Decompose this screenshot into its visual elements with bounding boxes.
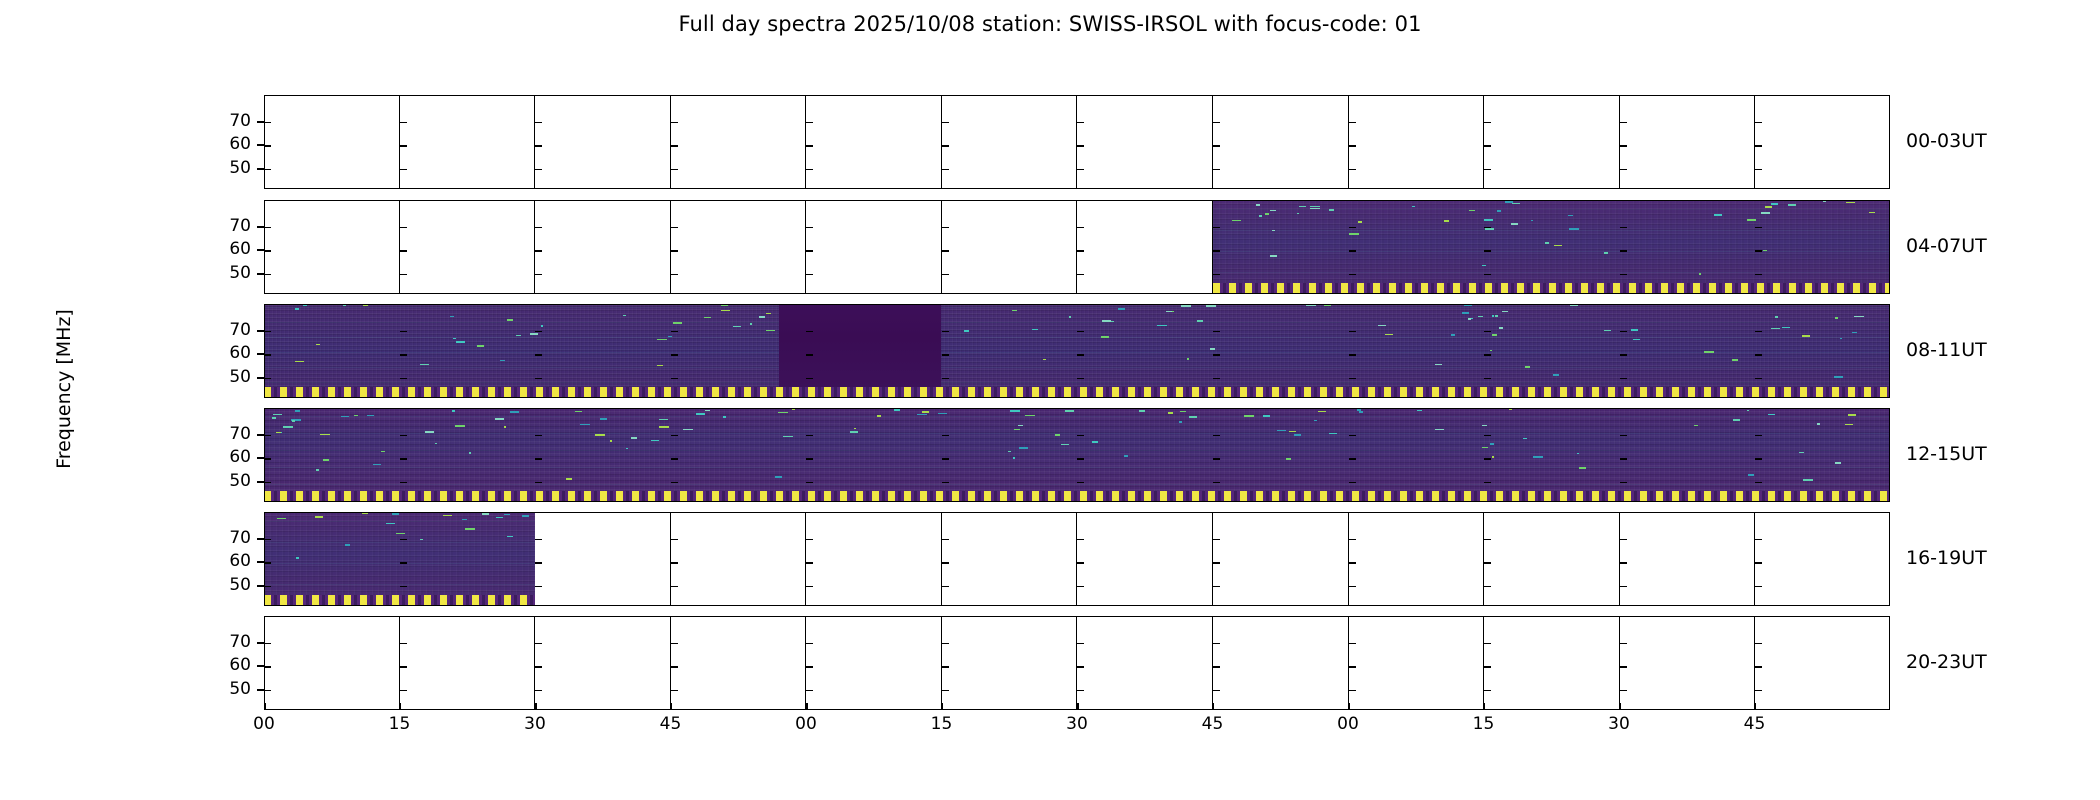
subpanel-y-tick-60 xyxy=(942,354,949,356)
x-tick-label: 15 xyxy=(922,714,962,734)
figure-title: Full day spectra 2025/10/08 station: SWI… xyxy=(0,12,2100,36)
subpanel[interactable] xyxy=(671,512,807,606)
subpanel-y-tick-60 xyxy=(671,354,678,356)
subpanel-y-tick-60 xyxy=(1213,562,1220,564)
y-tick-mark xyxy=(257,434,264,436)
subpanel-y-tick-70 xyxy=(1755,643,1762,645)
subpanel-y-tick-70 xyxy=(1755,331,1762,333)
subpanel[interactable] xyxy=(1620,95,1756,189)
subpanel-y-tick-70 xyxy=(942,227,949,229)
y-tick-mark xyxy=(257,226,264,228)
subpanel-y-tick-60 xyxy=(400,562,407,564)
subpanel-y-tick-70 xyxy=(264,539,271,541)
subpanel[interactable] xyxy=(400,616,536,710)
x-tick-mark xyxy=(1077,703,1079,710)
row-time-label: 12-15UT xyxy=(1906,443,1987,465)
subpanel-y-tick-70 xyxy=(1077,539,1084,541)
spectrogram-data xyxy=(264,304,1890,398)
subpanel[interactable] xyxy=(1349,95,1485,189)
subpanel[interactable] xyxy=(535,200,671,294)
subpanel-y-tick-50 xyxy=(1620,586,1627,588)
subpanel[interactable] xyxy=(671,616,807,710)
row-time-label: 00-03UT xyxy=(1906,130,1987,152)
subpanel-y-tick-70 xyxy=(400,643,407,645)
subpanel-y-tick-70 xyxy=(1213,331,1220,333)
subpanel-y-tick-50 xyxy=(264,378,271,380)
subpanel-y-tick-50 xyxy=(535,274,542,276)
subpanel[interactable] xyxy=(1484,616,1620,710)
subpanel[interactable] xyxy=(806,95,942,189)
y-tick-label: 70 xyxy=(0,424,251,444)
y-tick-label: 50 xyxy=(0,471,251,491)
subpanel-y-tick-70 xyxy=(1213,227,1220,229)
y-tick-mark xyxy=(257,585,264,587)
subpanel-y-tick-50 xyxy=(264,482,271,484)
y-tick-mark xyxy=(257,481,264,483)
subpanel-y-tick-50 xyxy=(942,586,949,588)
subpanel[interactable] xyxy=(1213,616,1349,710)
subpanel-y-tick-60 xyxy=(1349,562,1356,564)
y-tick-label: 60 xyxy=(0,551,251,571)
subpanel-y-tick-60 xyxy=(535,458,542,460)
subpanel-y-tick-50 xyxy=(671,274,678,276)
subpanel-y-tick-60 xyxy=(806,145,813,147)
subpanel[interactable] xyxy=(1620,512,1756,606)
subpanel-y-tick-60 xyxy=(806,250,813,252)
subpanel[interactable] xyxy=(1213,512,1349,606)
subpanel-y-tick-70 xyxy=(671,122,678,124)
subpanel-y-tick-60 xyxy=(264,458,271,460)
subpanel-y-tick-70 xyxy=(535,122,542,124)
subpanel-y-tick-60 xyxy=(1484,354,1491,356)
subpanel-y-tick-50 xyxy=(264,586,271,588)
subpanel-y-tick-50 xyxy=(1077,378,1084,380)
subpanel-y-tick-50 xyxy=(535,586,542,588)
subpanel-y-tick-60 xyxy=(1077,666,1084,668)
subpanel-y-tick-50 xyxy=(806,169,813,171)
spectrogram-row-12-15ut[interactable] xyxy=(264,408,1890,502)
subpanel-y-tick-60 xyxy=(264,562,271,564)
subpanel-y-tick-70 xyxy=(264,227,271,229)
y-tick-label: 50 xyxy=(0,367,251,387)
x-tick-mark xyxy=(1619,703,1621,710)
x-tick-label: 00 xyxy=(1328,714,1368,734)
subpanel-y-tick-50 xyxy=(1213,378,1220,380)
subpanel-y-tick-70 xyxy=(1755,122,1762,124)
subpanel-y-tick-50 xyxy=(1349,690,1356,692)
y-tick-mark xyxy=(257,353,264,355)
subpanel[interactable] xyxy=(1077,512,1213,606)
subpanel-y-tick-50 xyxy=(1620,169,1627,171)
subpanel-y-tick-50 xyxy=(942,274,949,276)
x-tick-label: 45 xyxy=(1193,714,1233,734)
x-tick-label: 00 xyxy=(786,714,826,734)
subpanel-y-tick-60 xyxy=(1484,666,1491,668)
x-tick-label: 45 xyxy=(1735,714,1775,734)
subpanel-y-tick-60 xyxy=(535,354,542,356)
subpanel[interactable] xyxy=(400,95,536,189)
subpanel-y-tick-50 xyxy=(1077,482,1084,484)
y-tick-label: 70 xyxy=(0,216,251,236)
subpanel-y-tick-70 xyxy=(1213,435,1220,437)
spectrogram-bottom-stripe xyxy=(264,595,535,606)
subpanel-y-tick-70 xyxy=(671,643,678,645)
subpanel-y-tick-50 xyxy=(806,586,813,588)
subpanel[interactable] xyxy=(806,512,942,606)
subpanel-y-tick-50 xyxy=(1213,169,1220,171)
subpanel-y-tick-60 xyxy=(1213,458,1220,460)
y-tick-label: 60 xyxy=(0,239,251,259)
subpanel-grid xyxy=(264,95,1890,189)
subpanel-y-tick-50 xyxy=(1755,482,1762,484)
subpanel-y-tick-60 xyxy=(1213,354,1220,356)
subpanel-y-tick-50 xyxy=(1620,690,1627,692)
x-tick-mark xyxy=(535,703,537,710)
subpanel-y-tick-50 xyxy=(535,482,542,484)
subpanel-y-tick-50 xyxy=(400,169,407,171)
subpanel[interactable] xyxy=(535,616,671,710)
subpanel-y-tick-50 xyxy=(942,378,949,380)
subpanel[interactable] xyxy=(1077,616,1213,710)
y-tick-mark xyxy=(257,249,264,251)
subpanel-y-tick-60 xyxy=(1620,458,1627,460)
subpanel[interactable] xyxy=(264,616,400,710)
subpanel-y-tick-50 xyxy=(942,482,949,484)
subpanel-y-tick-50 xyxy=(1077,274,1084,276)
subpanel-y-tick-60 xyxy=(1213,145,1220,147)
subpanel-y-tick-70 xyxy=(1213,539,1220,541)
subpanel-y-tick-60 xyxy=(1349,458,1356,460)
subpanel-y-tick-60 xyxy=(942,145,949,147)
x-tick-label: 30 xyxy=(1057,714,1097,734)
subpanel-y-tick-50 xyxy=(1484,378,1491,380)
subpanel-y-tick-70 xyxy=(535,227,542,229)
row-time-label: 20-23UT xyxy=(1906,651,1987,673)
subpanel-y-tick-70 xyxy=(264,122,271,124)
subpanel[interactable] xyxy=(535,512,671,606)
y-tick-label: 50 xyxy=(0,575,251,595)
subpanel-y-tick-50 xyxy=(1213,690,1220,692)
subpanel-y-tick-60 xyxy=(535,145,542,147)
subpanel-y-tick-70 xyxy=(806,435,813,437)
subpanel-y-tick-70 xyxy=(806,539,813,541)
subpanel-y-tick-70 xyxy=(400,227,407,229)
subpanel-y-tick-50 xyxy=(1349,586,1356,588)
subpanel-y-tick-70 xyxy=(942,643,949,645)
subpanel-y-tick-50 xyxy=(1077,586,1084,588)
subpanel[interactable] xyxy=(1349,616,1485,710)
y-tick-label: 70 xyxy=(0,111,251,131)
spectrogram-row-16-19ut[interactable] xyxy=(264,512,1890,606)
subpanel-y-tick-60 xyxy=(264,250,271,252)
spectrogram-row-08-11ut[interactable] xyxy=(264,304,1890,398)
x-tick-mark xyxy=(400,703,402,710)
subpanel-y-tick-70 xyxy=(942,435,949,437)
subpanel-y-tick-60 xyxy=(942,666,949,668)
x-tick-label: 30 xyxy=(1599,714,1639,734)
y-tick-label: 50 xyxy=(0,158,251,178)
subpanel-y-tick-60 xyxy=(1077,562,1084,564)
y-tick-label: 70 xyxy=(0,632,251,652)
subpanel-y-tick-60 xyxy=(1349,250,1356,252)
row-time-label: 08-11UT xyxy=(1906,339,1987,361)
subpanel-y-tick-50 xyxy=(400,690,407,692)
y-tick-mark xyxy=(257,121,264,123)
subpanel[interactable] xyxy=(806,200,942,294)
subpanel-y-tick-50 xyxy=(1620,482,1627,484)
subpanel-y-tick-60 xyxy=(1077,145,1084,147)
subpanel-y-tick-50 xyxy=(400,482,407,484)
x-tick-mark xyxy=(1484,703,1486,710)
subpanel[interactable] xyxy=(1484,95,1620,189)
subpanel-y-tick-70 xyxy=(535,643,542,645)
subpanel-y-tick-60 xyxy=(264,666,271,668)
subpanel-y-tick-50 xyxy=(264,169,271,171)
subpanel-grid xyxy=(264,616,1890,710)
spectrogram-data xyxy=(264,408,1890,502)
subpanel[interactable] xyxy=(264,95,400,189)
subpanel[interactable] xyxy=(671,200,807,294)
subpanel-y-tick-70 xyxy=(264,643,271,645)
subpanel[interactable] xyxy=(400,200,536,294)
subpanel-y-tick-50 xyxy=(400,586,407,588)
subpanel-y-tick-50 xyxy=(535,169,542,171)
subpanel-y-tick-50 xyxy=(671,169,678,171)
subpanel-y-tick-70 xyxy=(1484,331,1491,333)
spectrogram-data xyxy=(1213,200,1891,294)
subpanel-y-tick-60 xyxy=(1755,145,1762,147)
subpanel-y-tick-60 xyxy=(1755,562,1762,564)
subpanel-y-tick-70 xyxy=(1484,435,1491,437)
subpanel-y-tick-50 xyxy=(806,274,813,276)
subpanel-y-tick-70 xyxy=(942,539,949,541)
subpanel-y-tick-70 xyxy=(1349,122,1356,124)
subpanel-y-tick-70 xyxy=(1213,643,1220,645)
subpanel-y-tick-70 xyxy=(400,539,407,541)
y-tick-mark xyxy=(257,561,264,563)
subpanel-y-tick-70 xyxy=(1484,643,1491,645)
subpanel-y-tick-70 xyxy=(1620,331,1627,333)
subpanel-y-tick-70 xyxy=(1620,435,1627,437)
subpanel-y-tick-50 xyxy=(535,690,542,692)
subpanel-y-tick-70 xyxy=(535,435,542,437)
subpanel-y-tick-60 xyxy=(1620,666,1627,668)
spectrogram-row-04-07ut[interactable] xyxy=(264,200,1890,294)
subpanel-y-tick-70 xyxy=(1620,643,1627,645)
x-tick-label: 15 xyxy=(1464,714,1504,734)
subpanel[interactable] xyxy=(1755,512,1890,606)
y-tick-mark xyxy=(257,642,264,644)
subpanel-y-tick-50 xyxy=(1620,378,1627,380)
subpanel[interactable] xyxy=(1484,512,1620,606)
x-tick-mark xyxy=(1755,703,1757,710)
subpanel-y-tick-60 xyxy=(535,250,542,252)
subpanel-y-tick-60 xyxy=(1077,354,1084,356)
spectrogram-bottom-stripe xyxy=(264,387,1890,398)
subpanel-y-tick-60 xyxy=(1484,458,1491,460)
subpanel-y-tick-70 xyxy=(1077,435,1084,437)
subpanel-y-tick-50 xyxy=(535,378,542,380)
subpanel-y-tick-60 xyxy=(1484,562,1491,564)
subpanel-y-tick-70 xyxy=(1077,643,1084,645)
subpanel[interactable] xyxy=(1077,95,1213,189)
row-time-label: 16-19UT xyxy=(1906,547,1987,569)
x-tick-mark xyxy=(942,703,944,710)
subpanel-y-tick-50 xyxy=(942,690,949,692)
subpanel-y-tick-50 xyxy=(1349,378,1356,380)
subpanel[interactable] xyxy=(942,512,1078,606)
subpanel-y-tick-50 xyxy=(400,378,407,380)
subpanel-y-tick-50 xyxy=(1484,586,1491,588)
row-time-label: 04-07UT xyxy=(1906,235,1987,257)
y-tick-label: 60 xyxy=(0,655,251,675)
subpanel-y-tick-50 xyxy=(1755,274,1762,276)
subpanel-y-tick-70 xyxy=(400,331,407,333)
y-tick-label: 50 xyxy=(0,263,251,283)
subpanel[interactable] xyxy=(1755,95,1890,189)
subpanel-y-tick-70 xyxy=(1077,227,1084,229)
subpanel-y-tick-70 xyxy=(1484,539,1491,541)
subpanel-y-tick-70 xyxy=(806,122,813,124)
subpanel-y-tick-70 xyxy=(400,435,407,437)
subpanel-y-tick-60 xyxy=(1755,354,1762,356)
spectrogram-row-00-03ut[interactable] xyxy=(264,95,1890,189)
subpanel-y-tick-50 xyxy=(1349,274,1356,276)
subpanel[interactable] xyxy=(264,200,400,294)
subpanel[interactable] xyxy=(1349,512,1485,606)
x-tick-label: 45 xyxy=(651,714,691,734)
subpanel[interactable] xyxy=(806,616,942,710)
subpanel-y-tick-50 xyxy=(806,690,813,692)
subpanel-y-tick-60 xyxy=(1077,250,1084,252)
subpanel-y-tick-60 xyxy=(1620,250,1627,252)
y-tick-mark xyxy=(257,665,264,667)
subpanel-y-tick-70 xyxy=(671,227,678,229)
x-tick-label: 15 xyxy=(380,714,420,734)
subpanel-y-tick-70 xyxy=(671,331,678,333)
subpanel-y-tick-50 xyxy=(1213,274,1220,276)
x-tick-label: 00 xyxy=(244,714,284,734)
subpanel-y-tick-50 xyxy=(1755,586,1762,588)
y-tick-mark xyxy=(257,689,264,691)
subpanel[interactable] xyxy=(1755,616,1890,710)
subpanel-y-tick-70 xyxy=(1755,539,1762,541)
subpanel[interactable] xyxy=(942,616,1078,710)
subpanel-y-tick-50 xyxy=(1077,169,1084,171)
y-axis-title: Frequency [MHz] xyxy=(53,239,75,539)
subpanel-y-tick-50 xyxy=(1484,690,1491,692)
spectrogram-bottom-stripe xyxy=(1213,283,1891,294)
x-axis: 001530450015304500153045 xyxy=(264,703,1890,747)
subpanel-y-tick-60 xyxy=(1755,250,1762,252)
subpanel-y-tick-60 xyxy=(1349,354,1356,356)
subpanel-y-tick-70 xyxy=(671,435,678,437)
subpanel-y-tick-70 xyxy=(535,331,542,333)
y-tick-mark xyxy=(257,168,264,170)
subpanel-y-tick-70 xyxy=(671,539,678,541)
subpanel-y-tick-60 xyxy=(942,250,949,252)
subpanel-y-tick-70 xyxy=(264,331,271,333)
subpanel-y-tick-70 xyxy=(1484,227,1491,229)
subpanel[interactable] xyxy=(942,95,1078,189)
subpanel-y-tick-60 xyxy=(942,562,949,564)
subpanel[interactable] xyxy=(1213,95,1349,189)
spectrogram-row-20-23ut[interactable] xyxy=(264,616,1890,710)
subpanel-y-tick-60 xyxy=(1620,145,1627,147)
subpanel-y-tick-70 xyxy=(1349,539,1356,541)
subpanel-y-tick-60 xyxy=(535,562,542,564)
y-tick-mark xyxy=(257,457,264,459)
subpanel-y-tick-60 xyxy=(806,666,813,668)
subpanel-y-tick-60 xyxy=(535,666,542,668)
subpanel-y-tick-50 xyxy=(1077,690,1084,692)
subpanel-y-tick-60 xyxy=(400,250,407,252)
subpanel-y-tick-60 xyxy=(806,458,813,460)
subpanel-y-tick-70 xyxy=(806,643,813,645)
subpanel-y-tick-60 xyxy=(806,354,813,356)
subpanel-y-tick-50 xyxy=(1213,482,1220,484)
x-tick-mark xyxy=(806,703,808,710)
subpanel-y-tick-50 xyxy=(1484,482,1491,484)
subpanel-y-tick-50 xyxy=(671,378,678,380)
subpanel-y-tick-60 xyxy=(1620,562,1627,564)
spectrogram-data xyxy=(264,512,535,606)
subpanel-y-tick-60 xyxy=(400,145,407,147)
subpanel-y-tick-60 xyxy=(806,562,813,564)
subpanel[interactable] xyxy=(535,95,671,189)
subpanel-y-tick-50 xyxy=(1755,690,1762,692)
y-tick-label: 70 xyxy=(0,528,251,548)
subpanel-y-tick-50 xyxy=(806,378,813,380)
subpanel-y-tick-50 xyxy=(1620,274,1627,276)
subpanel-y-tick-70 xyxy=(1620,227,1627,229)
subpanel-y-tick-60 xyxy=(671,458,678,460)
subpanel-y-tick-70 xyxy=(1755,227,1762,229)
subpanel-y-tick-50 xyxy=(942,169,949,171)
subpanel[interactable] xyxy=(671,95,807,189)
y-tick-mark xyxy=(257,538,264,540)
subpanel-y-tick-50 xyxy=(1213,586,1220,588)
subpanel-y-tick-50 xyxy=(1484,274,1491,276)
subpanel-y-tick-50 xyxy=(671,586,678,588)
subpanel-y-tick-70 xyxy=(264,435,271,437)
spectrogram-figure: Full day spectra 2025/10/08 station: SWI… xyxy=(0,0,2100,800)
subpanel[interactable] xyxy=(1620,616,1756,710)
subpanel-y-tick-70 xyxy=(535,539,542,541)
x-tick-mark xyxy=(1348,703,1350,710)
subpanel-y-tick-70 xyxy=(1349,435,1356,437)
subpanel-y-tick-60 xyxy=(1213,250,1220,252)
subpanel-y-tick-60 xyxy=(942,458,949,460)
subpanel-y-tick-50 xyxy=(1349,482,1356,484)
subpanel-y-tick-70 xyxy=(942,331,949,333)
subpanel-y-tick-60 xyxy=(264,145,271,147)
subpanel-y-tick-70 xyxy=(1077,122,1084,124)
y-tick-mark xyxy=(257,273,264,275)
subpanel-y-tick-50 xyxy=(264,274,271,276)
subpanel[interactable] xyxy=(1077,200,1213,294)
subpanel-y-tick-60 xyxy=(671,666,678,668)
subpanel-y-tick-60 xyxy=(400,666,407,668)
y-tick-mark xyxy=(257,144,264,146)
subpanel-y-tick-70 xyxy=(1077,331,1084,333)
subpanel-y-tick-50 xyxy=(1755,169,1762,171)
subpanel-y-tick-70 xyxy=(1755,435,1762,437)
subpanel-y-tick-60 xyxy=(671,145,678,147)
subpanel-y-tick-60 xyxy=(1755,666,1762,668)
y-tick-label: 70 xyxy=(0,320,251,340)
subpanel[interactable] xyxy=(942,200,1078,294)
